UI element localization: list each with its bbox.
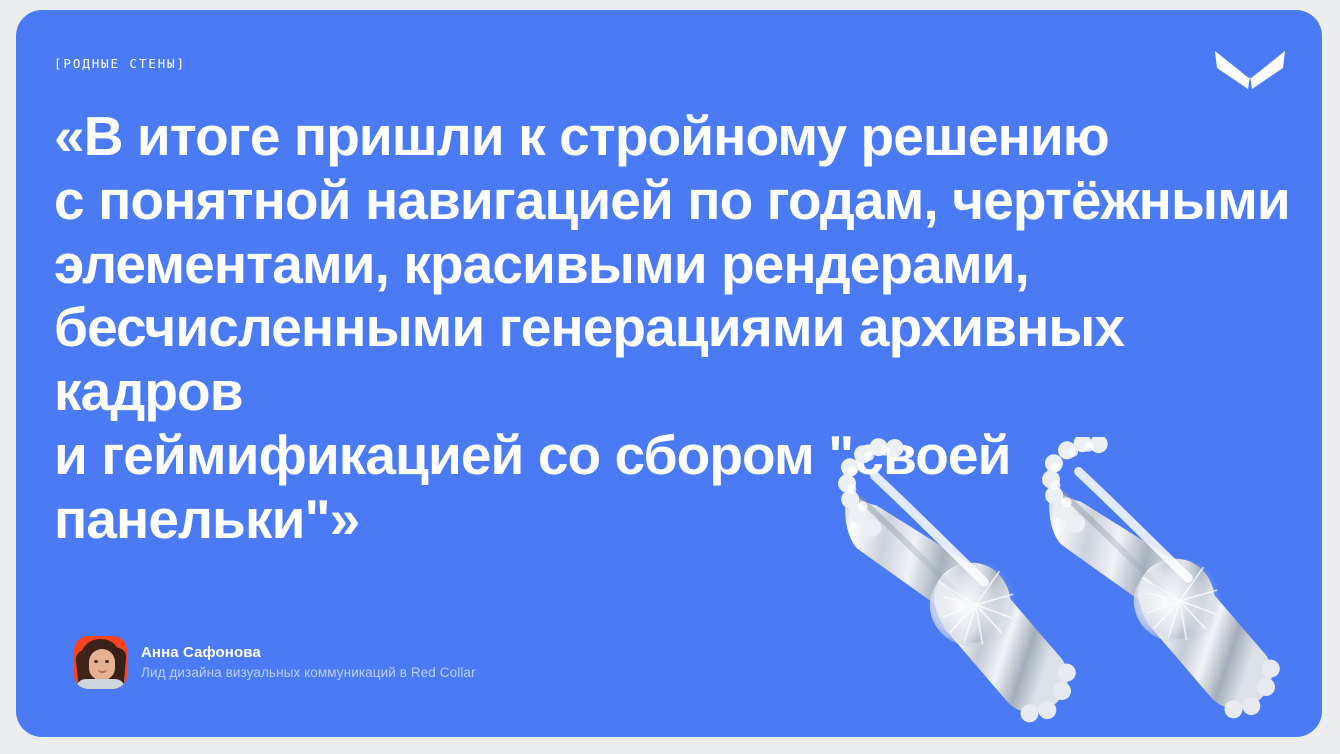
project-tag: [РОДНЫЕ СТЕНЫ] <box>54 58 186 71</box>
avatar <box>74 636 127 689</box>
author-name: Анна Сафонова <box>141 644 476 662</box>
slide-canvas: [РОДНЫЕ СТЕНЫ] «В итоге пришли к стройно… <box>0 0 1340 754</box>
quote-text: «В итоге пришли к стройному решению с по… <box>54 105 1294 552</box>
author-role: Лид дизайна визуальных коммуникаций в Re… <box>141 665 476 681</box>
avatar-eye-left <box>94 660 98 663</box>
author-block: Анна Сафонова Лид дизайна визуальных ком… <box>74 636 476 689</box>
avatar-eye-right <box>105 660 109 663</box>
quote-card: [РОДНЫЕ СТЕНЫ] «В итоге пришли к стройно… <box>16 10 1322 737</box>
red-collar-wings-logo <box>1214 46 1286 90</box>
author-text: Анна Сафонова Лид дизайна визуальных ком… <box>141 644 476 681</box>
avatar-shoulders <box>76 679 125 689</box>
avatar-face <box>89 649 115 680</box>
